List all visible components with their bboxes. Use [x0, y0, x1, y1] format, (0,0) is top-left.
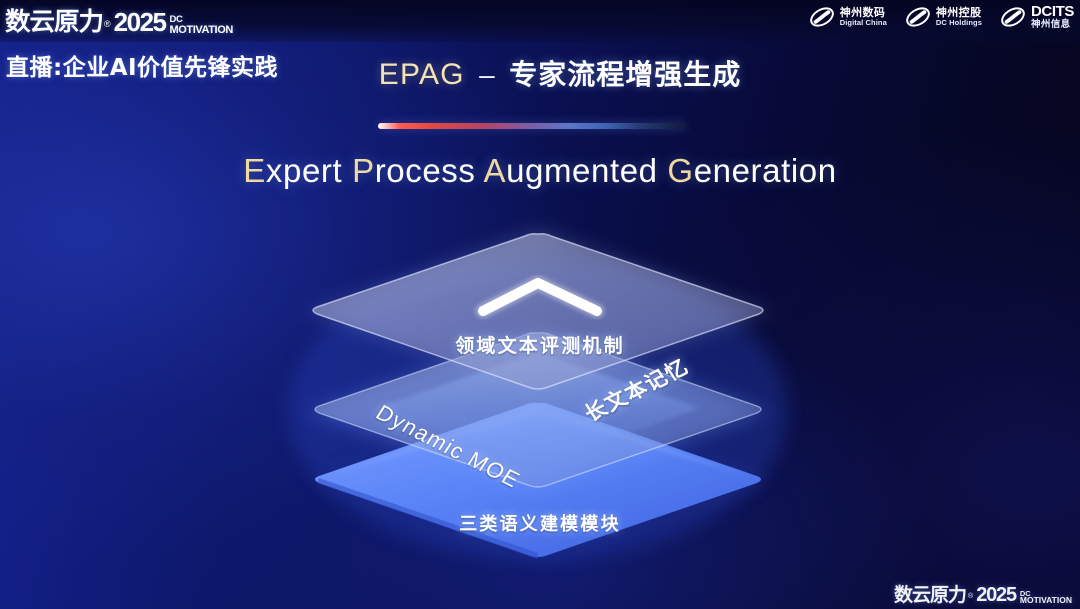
footer-brand-tagline-line2: MOTIVATION [1020, 597, 1072, 605]
layer-top-label: 领域文本评测机制 [0, 331, 1080, 358]
layer-stack-diagram: 领域文本评测机制 Dynamic MOE 长文本记忆 三类语义建模模块 [0, 0, 1080, 609]
footer-brand-name-cn: 数云原力 [894, 580, 966, 607]
footer-brand-registered-mark: ® [968, 593, 973, 600]
footer-brand-tagline: DC MOTIVATION [1020, 591, 1072, 605]
footer-brand-year: 2025 [976, 584, 1016, 607]
slide-canvas: 数云原力 ® 2025 DC MOTIVATION 直播:企业AI价值先锋实践 … [0, 0, 1080, 609]
brand-logo-footer: 数云原力 ® 2025 DC MOTIVATION [894, 580, 1072, 607]
layer-bottom-label: 三类语义建模模块 [0, 510, 1080, 536]
